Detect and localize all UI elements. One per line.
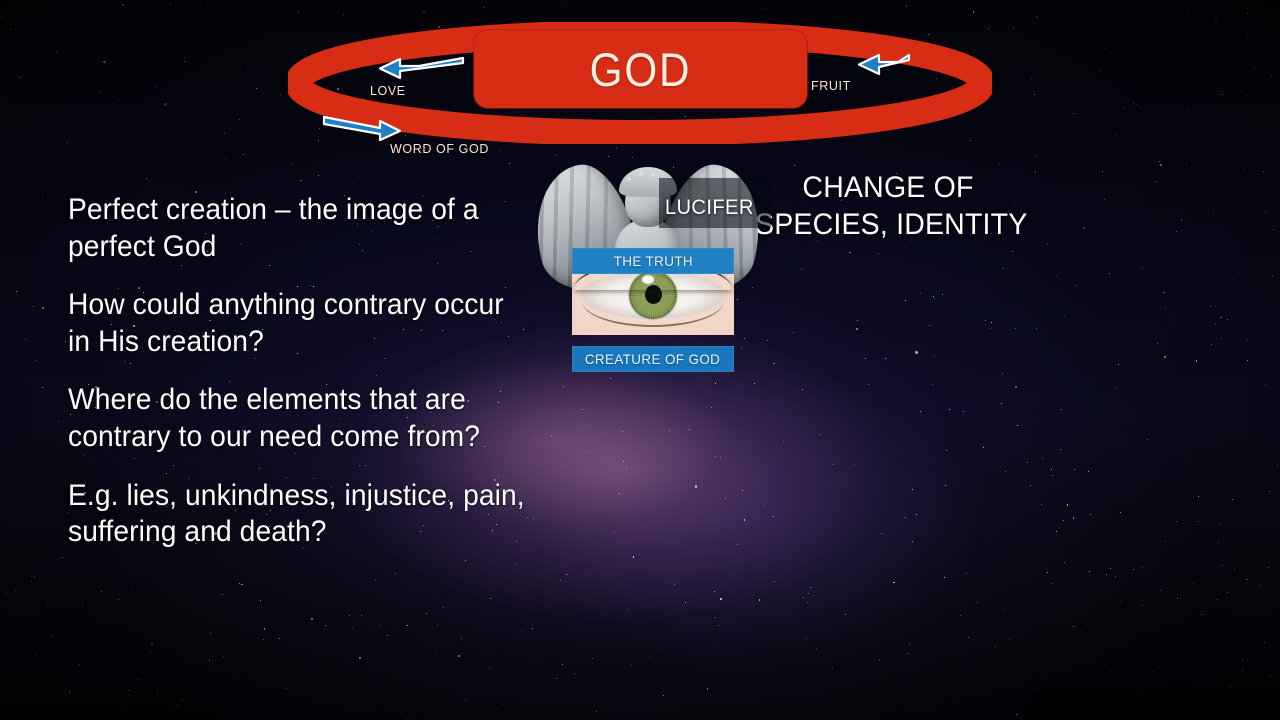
- bullet-item-4: E.g. lies, unkindness, injustice, pain, …: [68, 478, 530, 551]
- ring-label-love: LOVE: [370, 84, 406, 98]
- bullet-item-2: How could anything contrary occur in His…: [68, 287, 530, 360]
- heading-line-2: SPECIES, IDENTITY: [755, 207, 1021, 244]
- band-creature-of-god: CREATURE OF GOD: [572, 346, 734, 372]
- band-creature-of-god-label: CREATURE OF GOD: [585, 351, 720, 367]
- lucifer-label: LUCIFER: [665, 196, 754, 220]
- presentation-slide: LOVE FRUIT WORD OF GOD GOD Perfect creat…: [0, 0, 1280, 720]
- bullet-item-3: Where do the elements that are contrary …: [68, 382, 530, 455]
- ring-label-word-of-god: WORD OF GOD: [390, 142, 489, 156]
- ring-label-fruit: FRUIT: [811, 79, 851, 93]
- band-the-truth-label: THE TRUTH: [613, 253, 692, 269]
- bullet-item-1: Perfect creation – the image of a perfec…: [68, 192, 530, 265]
- horizon-silhouette: [1030, 672, 1280, 720]
- bullet-list: Perfect creation – the image of a perfec…: [68, 192, 560, 551]
- heading-line-1: CHANGE OF: [755, 170, 1021, 207]
- change-of-species-heading: CHANGE OF SPECIES, IDENTITY: [755, 170, 1021, 243]
- lucifer-truth-composite: LUCIFER THE TRUTH CREATURE OF GOD: [533, 163, 773, 381]
- god-title-box: GOD: [474, 30, 807, 108]
- god-title-text: GOD: [590, 46, 692, 93]
- band-the-truth: THE TRUTH: [572, 248, 734, 274]
